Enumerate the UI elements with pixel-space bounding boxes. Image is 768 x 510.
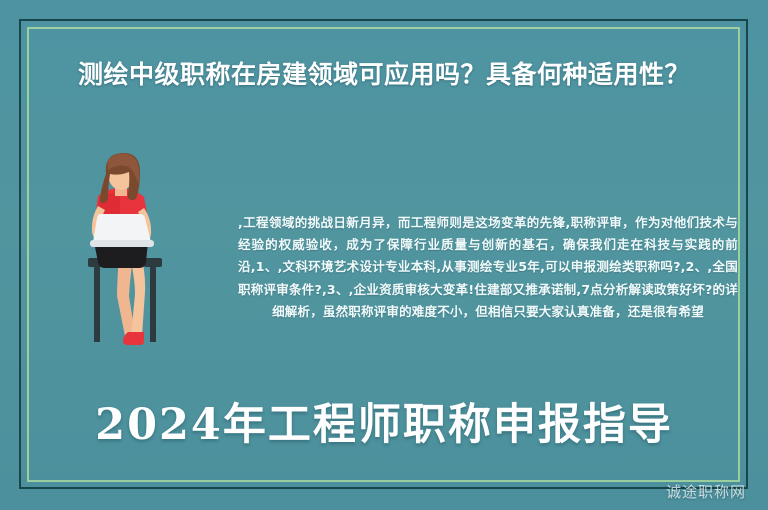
- poster-canvas: 测绘中级职称在房建领域可应用吗？具备何种适用性？: [0, 0, 768, 510]
- poster-body-paragraph: ,工程领域的挑战日新月异，而工程师则是这场变革的先锋,职称评审，作为对他们技术与…: [238, 212, 738, 323]
- woman-with-laptop-illustration: [72, 152, 232, 352]
- site-watermark: 诚途职称网: [666, 481, 746, 502]
- poster-banner-title: 2024年工程师职称申报指导: [40, 404, 728, 447]
- poster-headline: 测绘中级职称在房建领域可应用吗？具备何种适用性？: [40, 58, 728, 92]
